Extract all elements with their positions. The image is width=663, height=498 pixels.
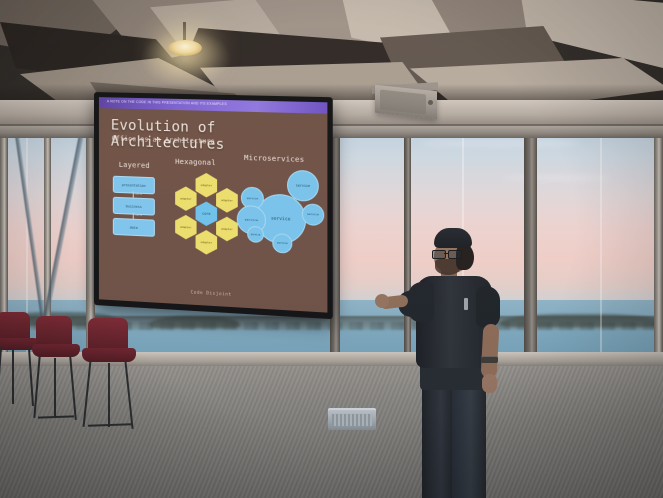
slide-banner-text: A NOTE ON THE CODE IN THIS PRESENTATION … <box>107 99 227 106</box>
light-glow <box>140 30 232 88</box>
shirt-logo <box>464 298 468 310</box>
presenter-leg-left <box>422 384 454 498</box>
column-title-microservices: Microservices <box>244 154 304 164</box>
hexagonal-diagram: adapter adapter adapter core adapter ada… <box>171 172 245 261</box>
photo-scene: A NOTE ON THE CODE IN THIS PRESENTATION … <box>0 0 663 498</box>
bar-stool <box>78 318 154 438</box>
glass-seam <box>600 130 602 356</box>
presenter <box>378 228 518 498</box>
microservices-diagram: service service service service service … <box>237 166 328 269</box>
light-stem <box>183 22 186 42</box>
layered-diagram: presentation calls business calls data <box>113 176 173 257</box>
beanie-hat <box>434 228 472 248</box>
cloud-wisp <box>420 140 580 147</box>
layer-box: data <box>113 218 155 237</box>
slide-footer: Code Disjoint <box>99 285 327 303</box>
layer-connector-label: calls <box>135 193 142 196</box>
presenter-leg-right <box>452 384 486 498</box>
cloud-wisp <box>500 175 610 181</box>
service-bubble: service <box>302 203 324 226</box>
landmass <box>150 316 240 328</box>
wristwatch <box>481 356 498 363</box>
layer-connector-label: calls <box>135 214 142 217</box>
presenter-hand-left <box>375 294 389 308</box>
speaker-knob <box>428 100 433 105</box>
glasses-icon <box>432 250 462 257</box>
column-title-hexagonal: Hexagonal <box>175 158 216 168</box>
presenter-sleeve-right <box>476 286 500 328</box>
hex-adapter: adapter <box>196 173 218 198</box>
service-bubble: service <box>247 226 264 243</box>
television-display[interactable]: A NOTE ON THE CODE IN THIS PRESENTATION … <box>94 92 333 319</box>
presenter-arm-right <box>481 324 500 379</box>
hex-adapter: adapter <box>196 230 218 255</box>
window-mullion <box>654 126 663 362</box>
presenter-hand-right <box>482 374 497 393</box>
ceiling-light <box>168 40 202 56</box>
hvac-grille <box>332 414 372 426</box>
window-mullion <box>524 126 537 362</box>
hex-adapter: adapter <box>175 214 196 239</box>
hex-adapter: adapter <box>216 188 238 213</box>
slide-canvas: A NOTE ON THE CODE IN THIS PRESENTATION … <box>99 97 327 313</box>
column-title-layered: Layered <box>119 161 150 170</box>
service-bubble: service <box>287 170 319 202</box>
hex-adapter: adapter <box>216 216 238 242</box>
service-bubble: service <box>272 233 292 254</box>
hex-adapter: adapter <box>175 186 196 211</box>
hex-core: core <box>196 201 218 226</box>
